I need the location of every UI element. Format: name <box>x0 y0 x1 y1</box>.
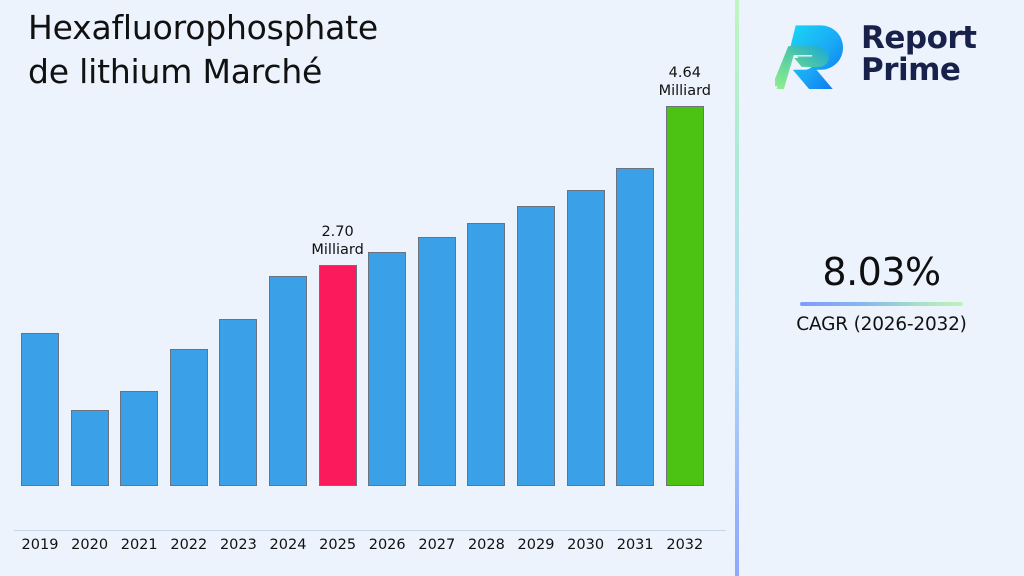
bar-value-number-2032: 4.64 <box>659 64 711 82</box>
bar-2024[interactable] <box>266 0 310 486</box>
x-axis-label-2019: 2019 <box>13 537 67 553</box>
bar-rect-2025[interactable] <box>319 265 357 486</box>
x-axis-label-2028: 2028 <box>459 537 513 553</box>
cagr-value: 8.03% <box>739 252 1024 294</box>
bar-2032[interactable]: 4.64Milliard <box>663 0 707 486</box>
x-axis-label-2030: 2030 <box>559 537 613 553</box>
bar-2021[interactable] <box>117 0 161 486</box>
bar-value-label-2032: 4.64Milliard <box>659 64 711 100</box>
cagr-caption: CAGR (2026-2032) <box>739 314 1024 335</box>
bar-2019[interactable] <box>18 0 62 486</box>
bar-rect-2032[interactable] <box>666 106 704 486</box>
bar-2029[interactable] <box>514 0 558 486</box>
bar-rect-2021[interactable] <box>120 391 158 486</box>
brand-wordmark: Report Prime <box>861 23 977 86</box>
bar-rect-2019[interactable] <box>21 333 59 486</box>
bar-2030[interactable] <box>564 0 608 486</box>
bar-rect-2023[interactable] <box>219 319 257 486</box>
bar-2028[interactable] <box>464 0 508 486</box>
bar-value-number-2025: 2.70 <box>311 223 363 241</box>
bar-rect-2028[interactable] <box>467 223 505 486</box>
x-axis-label-2027: 2027 <box>410 537 464 553</box>
chart-panel: Hexafluorophosphate de lithium Marché 2.… <box>0 0 735 576</box>
bar-rect-2029[interactable] <box>517 206 555 486</box>
x-axis-label-2024: 2024 <box>261 537 315 553</box>
x-axis-label-2022: 2022 <box>162 537 216 553</box>
x-axis-label-2023: 2023 <box>211 537 265 553</box>
bar-2023[interactable] <box>216 0 260 486</box>
x-axis-label-2026: 2026 <box>360 537 414 553</box>
bar-rect-2030[interactable] <box>567 190 605 486</box>
bar-rect-2020[interactable] <box>71 410 109 486</box>
right-panel: Report Prime 8.03% CAGR (2026-2032) <box>739 0 1024 576</box>
bar-value-unit-2032: Milliard <box>659 82 711 100</box>
bar-2027[interactable] <box>415 0 459 486</box>
bar-2022[interactable] <box>167 0 211 486</box>
cagr-divider-rule <box>800 302 963 306</box>
bar-2031[interactable] <box>613 0 657 486</box>
chart-page: Hexafluorophosphate de lithium Marché 2.… <box>0 0 1024 576</box>
bar-rect-2027[interactable] <box>418 237 456 486</box>
bar-2026[interactable] <box>365 0 409 486</box>
x-axis-label-2025: 2025 <box>311 537 365 553</box>
brand-line-1: Report <box>861 23 977 55</box>
bar-rect-2022[interactable] <box>170 349 208 486</box>
bar-value-unit-2025: Milliard <box>311 241 363 259</box>
plot-area: 2.70Milliard4.64Milliard <box>0 0 735 531</box>
report-prime-logo-icon <box>775 18 849 92</box>
bar-rect-2024[interactable] <box>269 276 307 486</box>
bar-rect-2031[interactable] <box>616 168 654 486</box>
x-axis-label-2031: 2031 <box>608 537 662 553</box>
x-axis-label-2021: 2021 <box>112 537 166 553</box>
cagr-block: 8.03% CAGR (2026-2032) <box>739 252 1024 335</box>
bar-value-label-2025: 2.70Milliard <box>311 223 363 259</box>
x-axis-label-2029: 2029 <box>509 537 563 553</box>
bar-2025[interactable]: 2.70Milliard <box>316 0 360 486</box>
brand-logo: Report Prime <box>775 10 1015 100</box>
x-axis-line <box>14 530 726 531</box>
x-axis-label-2020: 2020 <box>63 537 117 553</box>
brand-line-2: Prime <box>861 55 977 87</box>
x-axis-label-2032: 2032 <box>658 537 712 553</box>
bar-2020[interactable] <box>68 0 112 486</box>
bar-rect-2026[interactable] <box>368 252 406 486</box>
